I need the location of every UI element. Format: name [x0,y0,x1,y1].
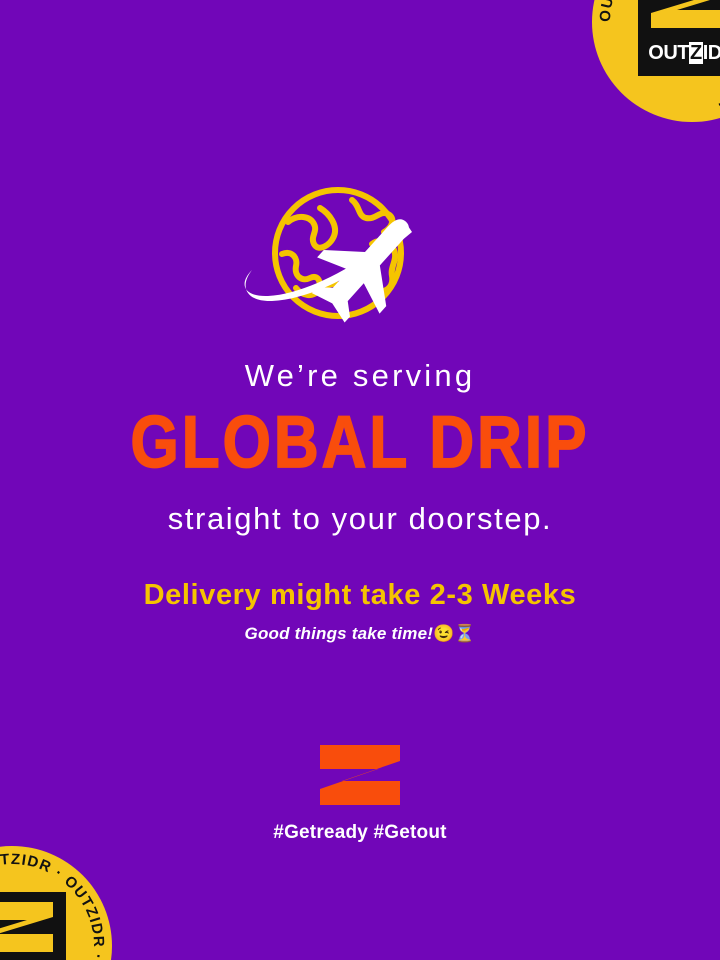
seal-core-prefix: OUT [648,42,689,64]
seal-core-wordmark: OUTZIDR [638,42,720,65]
poster-footer: #Getready #Getout [0,745,720,844]
reassurance-text: Good things take time!😉⏳ [0,625,720,643]
seal-core-top-right: OUTZIDR [638,0,720,76]
seal-core-suffix: IDR [703,42,720,64]
outzidr-seal-top-right: OUTZIDR · OUTZIDR · OUTZIDR · OUTZIDR · … [592,0,720,122]
wink-hourglass-emoji: 😉⏳ [433,624,475,643]
z-monogram-logo [320,745,400,805]
seal-core-zmark: Z [689,42,703,64]
subhead-text: straight to your doorstep. [0,503,720,536]
seal-core-z-icon [647,0,720,32]
reassurance-label: Good things take time! [245,624,434,643]
eyebrow-text: We’re serving [0,360,720,393]
delivery-note-text: Delivery might take 2-3 Weeks [0,580,720,610]
promo-poster: OUTZIDR · OUTZIDR · OUTZIDR · OUTZIDR · … [0,0,720,960]
seal-core-bottom-left: OUTZIDR [0,892,66,960]
outzidr-seal-bottom-left: OUTZIDR · OUTZIDR · OUTZIDR · OUTZIDR · … [0,846,112,960]
seal-core-z-icon [0,900,57,956]
poster-copy: We’re serving GLOBAL DRIP straight to yo… [0,360,720,642]
globe-airplane-icon [226,170,494,342]
headline-text: GLOBAL DRIP [0,407,720,480]
hashtags-text: #Getready #Getout [0,822,720,844]
